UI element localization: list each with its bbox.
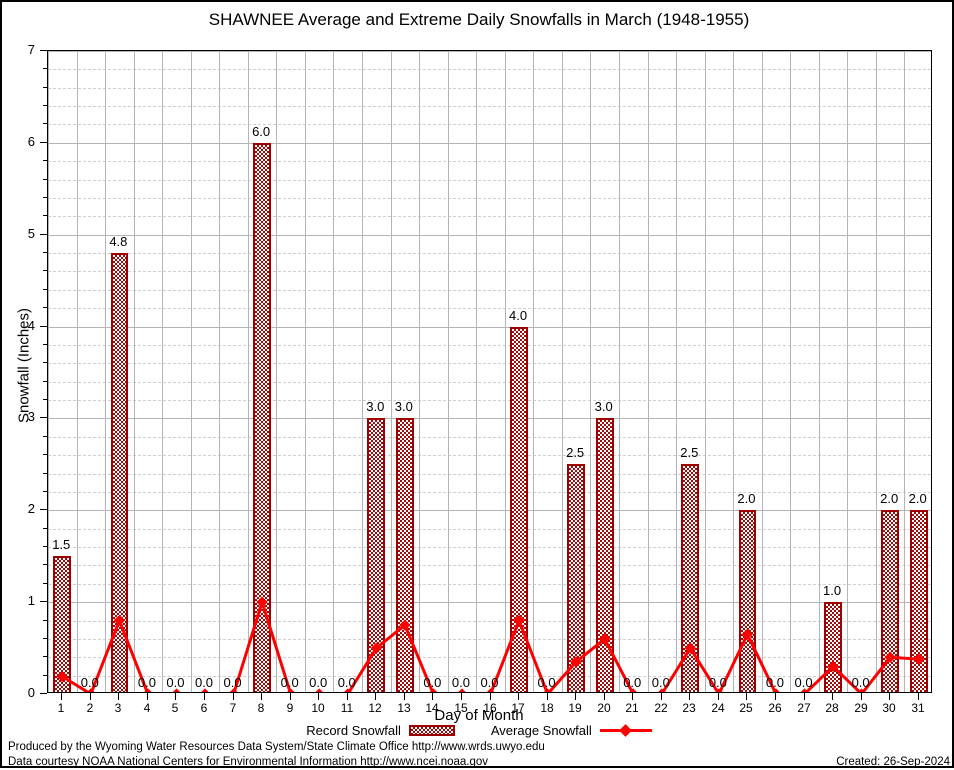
footer: Produced by the Wyoming Water Resources …	[8, 740, 950, 770]
chart-legend: Record SnowfallAverage Snowfall	[2, 721, 954, 738]
bar-value-label: 2.5	[555, 445, 595, 460]
x-tick-mark	[746, 693, 747, 700]
y-tick-mark-minor	[43, 638, 47, 639]
x-tick-mark	[661, 693, 662, 700]
y-tick-label: 4	[0, 318, 35, 333]
x-tick-mark	[118, 693, 119, 700]
y-tick-mark-minor	[43, 436, 47, 437]
y-tick-mark-minor	[43, 491, 47, 492]
y-tick-mark-minor	[43, 197, 47, 198]
bar-value-label: 0.0	[841, 675, 881, 690]
x-tick-mark	[775, 693, 776, 700]
bar-value-label: 4.0	[498, 308, 538, 323]
y-tick-mark	[40, 142, 47, 143]
y-tick-mark-minor	[43, 620, 47, 621]
y-tick-label: 1	[0, 593, 35, 608]
y-tick-mark-minor	[43, 564, 47, 565]
y-tick-label: 5	[0, 226, 35, 241]
bar-value-label: 0.0	[470, 675, 510, 690]
legend-label-record: Record Snowfall	[306, 723, 401, 738]
bar-value-label: 0.0	[527, 675, 567, 690]
record-swatch-icon	[409, 725, 455, 736]
y-tick-mark-minor	[43, 399, 47, 400]
y-tick-label: 2	[0, 501, 35, 516]
chart-page: SHAWNEE Average and Extreme Daily Snowfa…	[0, 0, 954, 768]
y-tick-label: 7	[0, 42, 35, 57]
y-tick-mark-minor	[43, 473, 47, 474]
x-tick-mark	[689, 693, 690, 700]
y-tick-mark-minor	[43, 675, 47, 676]
x-tick-mark	[290, 693, 291, 700]
bar-value-label: 0.0	[213, 675, 253, 690]
y-tick-mark-minor	[43, 344, 47, 345]
y-tick-mark-minor	[43, 656, 47, 657]
x-tick-mark	[375, 693, 376, 700]
y-tick-mark-minor	[43, 583, 47, 584]
y-tick-mark-minor	[43, 307, 47, 308]
y-axis-label: Snowfall (Inches)	[16, 266, 33, 466]
bar-value-label: 3.0	[584, 399, 624, 414]
x-tick-mark	[147, 693, 148, 700]
y-tick-mark	[40, 234, 47, 235]
x-tick-mark	[490, 693, 491, 700]
y-tick-mark-minor	[43, 454, 47, 455]
y-tick-mark	[40, 50, 47, 51]
y-tick-mark	[40, 693, 47, 694]
x-tick-mark	[804, 693, 805, 700]
y-tick-label: 6	[0, 134, 35, 149]
y-tick-mark	[40, 601, 47, 602]
bar-value-label: 6.0	[241, 124, 281, 139]
x-tick-mark	[204, 693, 205, 700]
footer-courtesy-text: Data courtesy NOAA National Centers for …	[8, 756, 488, 768]
y-tick-label: 0	[0, 685, 35, 700]
bar-value-label: 1.5	[41, 537, 81, 552]
bar-value-label: 0.0	[327, 675, 367, 690]
x-tick-mark	[547, 693, 548, 700]
y-tick-mark-minor	[43, 215, 47, 216]
x-tick-mark	[318, 693, 319, 700]
bar-value-label: 0.0	[698, 675, 738, 690]
y-tick-mark	[40, 326, 47, 327]
bar-value-label: 3.0	[384, 399, 424, 414]
y-tick-mark	[40, 417, 47, 418]
x-tick-mark	[61, 693, 62, 700]
x-tick-mark	[575, 693, 576, 700]
y-tick-mark-minor	[43, 105, 47, 106]
plot-area	[47, 50, 932, 693]
average-point-marker	[742, 629, 753, 640]
footer-producer-text: Produced by the Wyoming Water Resources …	[8, 741, 545, 753]
y-tick-mark-minor	[43, 179, 47, 180]
legend-item-record: Record Snowfall	[306, 722, 455, 738]
x-tick-mark	[832, 693, 833, 700]
x-tick-mark	[261, 693, 262, 700]
x-tick-mark	[632, 693, 633, 700]
y-tick-mark-minor	[43, 68, 47, 69]
bar-value-label: 2.0	[726, 491, 766, 506]
average-point-marker	[114, 615, 125, 626]
x-tick-mark	[404, 693, 405, 700]
x-tick-mark	[90, 693, 91, 700]
legend-item-average: Average Snowfall	[491, 722, 652, 738]
x-tick-mark	[861, 693, 862, 700]
x-tick-mark	[918, 693, 919, 700]
average-point-marker	[913, 653, 924, 664]
x-tick-mark	[889, 693, 890, 700]
x-tick-mark	[604, 693, 605, 700]
x-tick-mark	[432, 693, 433, 700]
x-tick-mark	[461, 693, 462, 700]
y-tick-mark	[40, 509, 47, 510]
y-tick-mark-minor	[43, 270, 47, 271]
y-tick-mark-minor	[43, 123, 47, 124]
legend-label-average: Average Snowfall	[491, 723, 592, 738]
y-tick-mark-minor	[43, 252, 47, 253]
page-title: SHAWNEE Average and Extreme Daily Snowfa…	[2, 10, 954, 30]
bar-value-label: 2.5	[669, 445, 709, 460]
average-snowfall-line	[48, 51, 932, 693]
y-tick-mark-minor	[43, 289, 47, 290]
average-point-marker	[256, 596, 267, 607]
x-tick-mark	[233, 693, 234, 700]
y-tick-mark-minor	[43, 528, 47, 529]
x-tick-mark	[518, 693, 519, 700]
y-tick-label: 3	[0, 409, 35, 424]
average-point-marker	[513, 615, 524, 626]
x-tick-mark	[718, 693, 719, 700]
bar-value-label: 4.8	[98, 234, 138, 249]
y-tick-mark-minor	[43, 362, 47, 363]
bar-value-label: 0.0	[784, 675, 824, 690]
bar-value-label: 0.0	[70, 675, 110, 690]
bar-value-label: 0.0	[641, 675, 681, 690]
footer-line-1: Produced by the Wyoming Water Resources …	[8, 740, 950, 755]
x-tick-mark	[347, 693, 348, 700]
average-swatch-icon	[600, 725, 652, 736]
bar-value-label: 1.0	[812, 583, 852, 598]
x-tick-mark	[175, 693, 176, 700]
y-tick-mark-minor	[43, 381, 47, 382]
y-tick-mark-minor	[43, 160, 47, 161]
bar-value-label: 2.0	[898, 491, 938, 506]
y-tick-mark-minor	[43, 87, 47, 88]
